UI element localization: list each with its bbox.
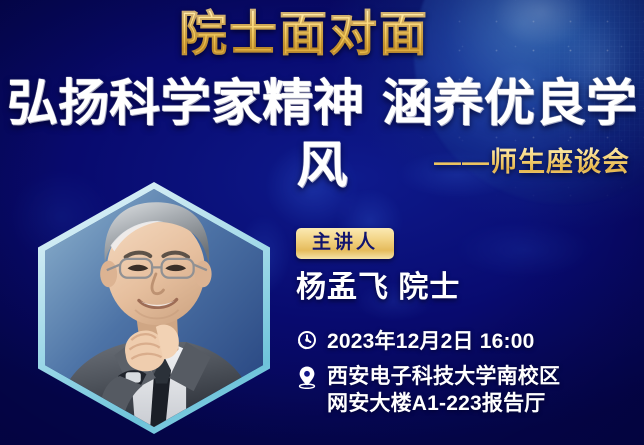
clock-icon [296, 328, 318, 356]
poster-title-subtitle: ——师生座谈会 [434, 145, 630, 179]
event-location-line1: 西安电子科技大学南校区 [327, 365, 560, 388]
event-info-block: 主讲人 杨孟飞 院士 2023年12月2日 16:00 [296, 228, 634, 424]
portrait-image-area [45, 189, 263, 427]
speaker-portrait [38, 182, 270, 434]
event-poster: 院士面对面 弘扬科学家精神 涵养优良学风 ——师生座谈会 [0, 0, 644, 445]
map-pin-icon [296, 363, 318, 391]
event-location-row: 西安电子科技大学南校区 网安大楼A1-223报告厅 [296, 363, 634, 417]
speaker-role-badge: 主讲人 [296, 228, 394, 259]
portrait-illustration [45, 189, 263, 427]
event-datetime-row: 2023年12月2日 16:00 [296, 328, 634, 356]
event-datetime: 2023年12月2日 16:00 [327, 328, 535, 355]
event-location-line2: 网安大楼A1-223报告厅 [327, 390, 560, 417]
event-meta-list: 2023年12月2日 16:00 西安电子科技大学南校区 网安大楼A1-223报… [296, 328, 634, 417]
poster-title-main: 院士面对面 [0, 6, 644, 64]
event-location: 西安电子科技大学南校区 网安大楼A1-223报告厅 [327, 363, 560, 417]
speaker-name: 杨孟飞 院士 [296, 270, 634, 306]
